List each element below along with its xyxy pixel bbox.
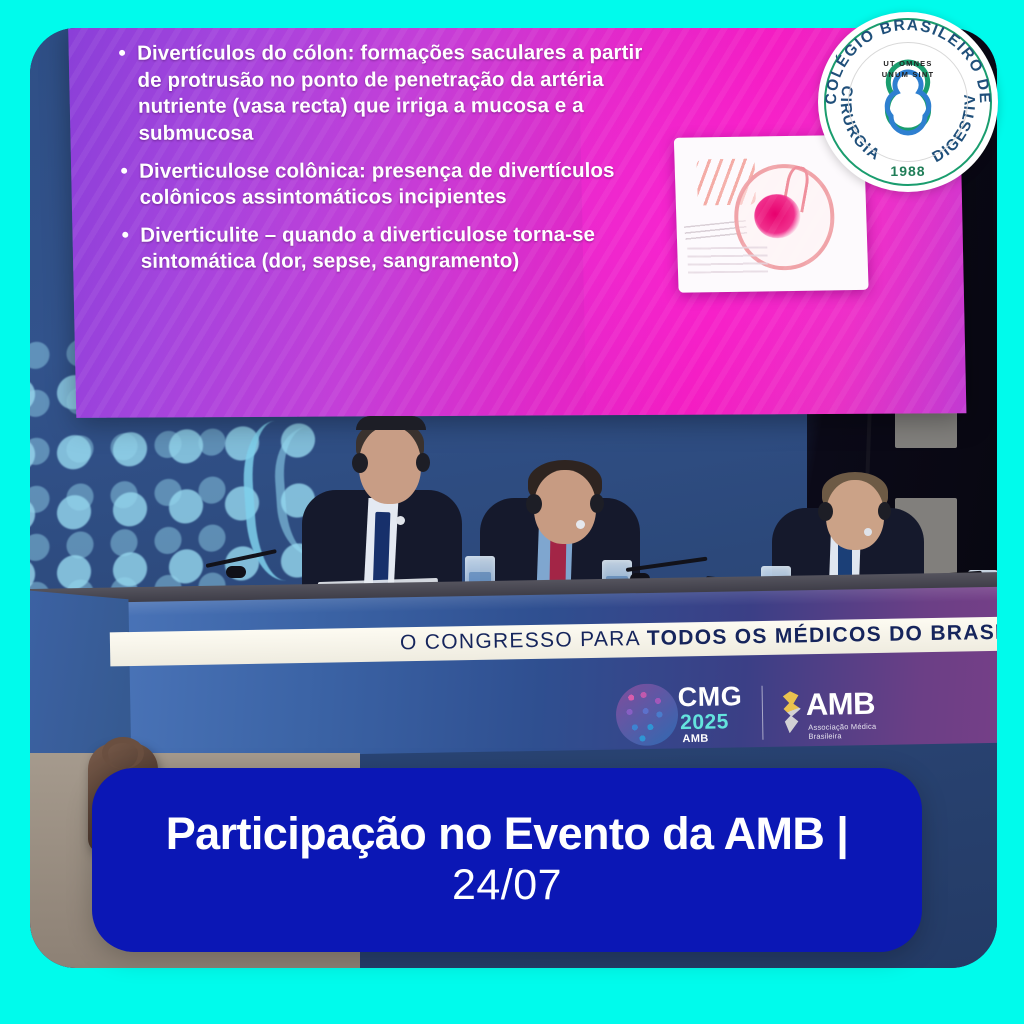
figure-fringe	[696, 159, 755, 206]
slide-bullet-list: Divertículos do cólon: formações sacular…	[115, 40, 649, 287]
slide-bullet-3: Diverticulite – quando a diverticulose t…	[118, 222, 649, 276]
cmg-wordmark: CMG	[678, 684, 743, 711]
cmg-amb-small-label: AMB	[682, 733, 708, 745]
podium-banner-text-bold: TODOS OS MÉDICOS DO BRASIL	[647, 621, 997, 650]
title-card: Participação no Evento da AMB | 24/07	[92, 768, 922, 952]
podium-banner-text-regular: O CONGRESSO PARA	[400, 627, 647, 654]
social-post-canvas: Divertículos do cólon: formações sacular…	[0, 0, 1024, 1024]
cmg-amb-logo-lockup: CMG 2025 AMB AMB Associação Médica Brasi…	[615, 676, 878, 751]
slide-bullet-1: Divertículos do cólon: formações sacular…	[115, 40, 647, 147]
figure-label-text	[687, 246, 768, 273]
slide-bullet-2: Diverticulose colônica: presença de dive…	[117, 157, 648, 211]
amb-subtitle: Associação Médica Brasileira	[808, 722, 878, 741]
figure-lines	[684, 220, 747, 242]
seal-year: 1988	[818, 163, 998, 179]
cmg-year: 2025	[680, 710, 729, 735]
logo-divider	[762, 686, 764, 740]
microphone-head-1	[226, 566, 246, 578]
seal-inner-ring	[848, 42, 968, 162]
podium-banner-text: O CONGRESSO PARA TODOS OS MÉDICOS DO BRA…	[400, 621, 997, 656]
figure-diverticulum-neck	[782, 164, 812, 212]
cbcd-seal-logo: COLÉGIO BRASILEIRO DE CIRURGIA DIGESTIVA…	[818, 12, 998, 192]
title-primary: Participação no Evento da AMB |	[166, 810, 848, 857]
figure-bleed-blot	[754, 194, 801, 239]
cmg-globe-icon	[615, 683, 678, 746]
title-date: 24/07	[452, 861, 562, 910]
amb-caduceus-icon	[780, 691, 807, 733]
amb-wordmark: AMB	[806, 686, 876, 723]
